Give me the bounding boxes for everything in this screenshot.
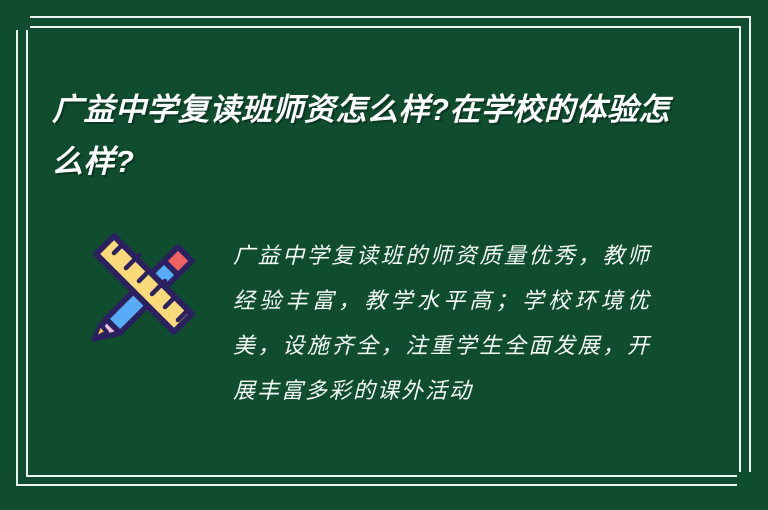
frame-mask-top-left-a	[14, 14, 28, 30]
frame-mask-top-left-b	[14, 14, 30, 28]
frame-mask-bottom-right-b	[739, 472, 753, 488]
page-title: 广益中学复读班师资怎么样?在学校的体验怎么样?	[52, 84, 692, 188]
summary-paragraph: 广益中学复读班的师资质量优秀，教师经验丰富，教学水平高；学校环境优美，设施齐全，…	[233, 234, 651, 414]
ruler-and-pencil-icon	[74, 214, 206, 346]
frame-mask-bottom-right-a	[737, 474, 753, 488]
poster-canvas: 广益中学复读班师资怎么样?在学校的体验怎么样?	[0, 0, 768, 510]
